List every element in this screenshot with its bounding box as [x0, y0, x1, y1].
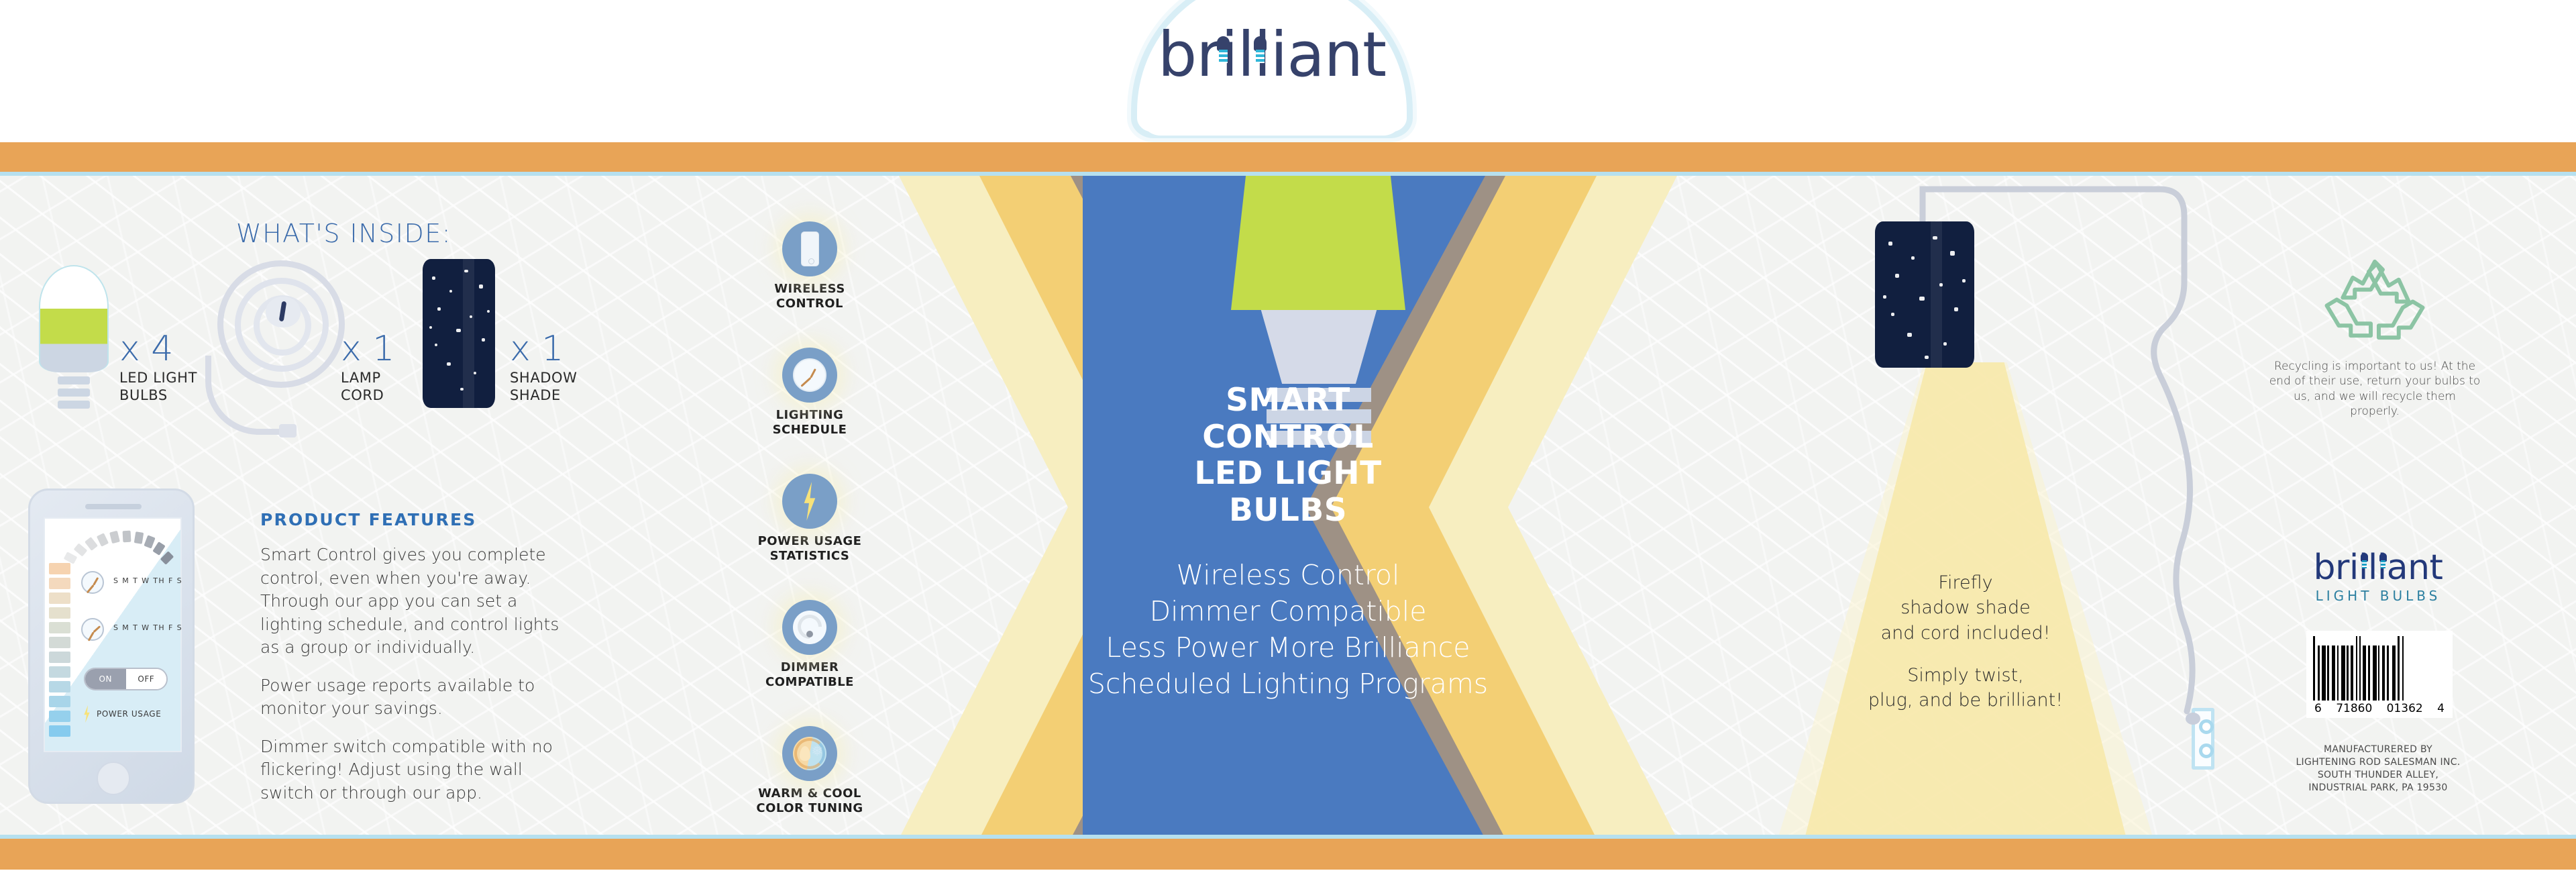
feature-dimmer-compatible: DIMMER COMPATIBLE	[749, 600, 870, 689]
led-bulb-thread	[58, 376, 90, 384]
phone-mockup: S M T W TH F S S M T W TH F S ON OFF POW…	[28, 488, 195, 804]
product-features-heading: PRODUCT FEATURES	[260, 510, 476, 529]
clock-icon	[81, 571, 104, 594]
clock-icon	[81, 618, 104, 641]
footer-brand-block: brilliant LIGHT BULBS	[2294, 550, 2462, 604]
center-title-line: CONTROL	[899, 419, 1677, 456]
footer-white-strip	[0, 870, 2576, 879]
feature-label-line2: COLOR TUNING	[756, 801, 863, 815]
dimmer-knob-icon	[782, 600, 837, 655]
feature-label-line2: STATISTICS	[770, 549, 850, 563]
center-subtitle-list: Wireless Control Dimmer Compatible Less …	[899, 557, 1677, 702]
product-features-paragraph: Smart Control gives you complete control…	[260, 544, 576, 660]
header-band: brilliant	[0, 0, 2576, 142]
inside-item-label-line1: LAMP	[341, 370, 381, 386]
inside-item-label-line2: CORD	[341, 387, 384, 403]
firefly-line3: and cord included!	[1811, 621, 2120, 645]
manufacturer-line: INDUSTRIAL PARK, PA 19530	[2281, 782, 2475, 794]
recycling-icon	[2324, 254, 2425, 348]
firefly-line2: shadow shade	[1811, 595, 2120, 620]
toggle-on-label[interactable]: ON	[85, 669, 126, 689]
power-usage-label: POWER USAGE	[97, 709, 161, 719]
giant-bulb-neck	[1253, 310, 1385, 384]
manufacturer-line: LIGHTENING ROD SALESMAN INC.	[2281, 756, 2475, 769]
manufacturer-line: MANUFACTURERED BY	[2281, 743, 2475, 756]
feature-label-line2: SCHEDULE	[773, 423, 847, 437]
feature-power-usage-statistics: POWER USAGE STATISTICS	[749, 474, 870, 563]
barcode: 6 71860 01362 4	[2306, 631, 2453, 718]
schedule-days-row2: S M T W TH F S	[113, 623, 182, 632]
led-bulb-thread	[58, 389, 90, 397]
toggle-off-label[interactable]: OFF	[126, 669, 167, 689]
shade-highlight	[1931, 221, 1942, 368]
feature-wireless-control: WIRELESS CONTROL	[749, 221, 870, 311]
product-features-paragraph: Dimmer switch compatible with no flicker…	[260, 735, 576, 805]
inside-item-label-line1: SHADOW	[510, 370, 578, 386]
center-subtitle-line: Scheduled Lighting Programs	[899, 666, 1677, 702]
inside-item-cord: x 1 LAMP CORD	[341, 329, 421, 405]
center-title-line: LED LIGHT	[899, 456, 1677, 493]
schedule-days-row1: S M T W TH F S	[113, 576, 182, 585]
inside-item-label-line2: SHADE	[510, 387, 561, 403]
barcode-digit-left: 6	[2314, 702, 2322, 715]
smartphone-icon	[782, 221, 837, 276]
phone-screen: S M T W TH F S S M T W TH F S ON OFF POW…	[44, 517, 182, 752]
product-features-body: Smart Control gives you complete control…	[260, 544, 576, 819]
recycling-block: Recycling is important to us! At the end…	[2267, 254, 2482, 419]
manufacturer-info: MANUFACTURERED BY LIGHTENING ROD SALESMA…	[2281, 743, 2475, 794]
logo-bulb-dot-icon	[1217, 36, 1230, 51]
firefly-line5: plug, and be brilliant!	[1811, 688, 2120, 713]
logo-bulb-dot-icon	[2379, 553, 2387, 562]
bottom-orange-band	[0, 839, 2576, 870]
feature-label-line1: WARM & COOL	[758, 786, 861, 800]
top-orange-band	[0, 142, 2576, 172]
firefly-line1: Firefly	[1811, 570, 2120, 595]
led-bulb-icon	[34, 265, 114, 413]
shadow-shade-icon	[423, 259, 495, 408]
center-subtitle-line: Wireless Control	[899, 557, 1677, 593]
product-features-paragraph: Power usage reports available to monitor…	[260, 674, 576, 721]
shade-highlight	[463, 259, 474, 408]
barcode-digit-group2: 01362	[2387, 702, 2423, 715]
feature-lighting-schedule: LIGHTING SCHEDULE	[749, 348, 870, 437]
inside-item-qty: x 1	[510, 329, 610, 369]
barcode-digit-right: 4	[2437, 702, 2445, 715]
inside-item-shade: x 1 SHADOW SHADE	[510, 329, 610, 405]
phone-home-button[interactable]	[97, 762, 130, 795]
outlet-socket	[2199, 719, 2214, 734]
barcode-digit-group1: 71860	[2336, 702, 2372, 715]
power-toggle[interactable]: ON OFF	[84, 668, 168, 690]
clock-icon	[782, 348, 837, 403]
feature-warm-cool-color-tuning: ❅ WARM & COOL COLOR TUNING	[749, 726, 870, 815]
feature-label-line1: DIMMER	[781, 660, 839, 674]
center-title: SMART CONTROL LED LIGHT BULBS	[899, 382, 1677, 529]
cord-socket	[266, 297, 301, 327]
led-bulb-thread	[58, 401, 90, 409]
warm-cool-icon: ❅	[782, 726, 837, 781]
feature-label-line2: COMPATIBLE	[765, 675, 854, 689]
barcode-bars	[2313, 636, 2446, 701]
recycling-note: Recycling is important to us! At the end…	[2267, 359, 2482, 419]
feature-label-line1: WIRELESS	[774, 282, 845, 296]
firefly-line4: Simply twist,	[1811, 663, 2120, 688]
inside-item-bulbs: x 4 LED LIGHT BULBS	[119, 329, 207, 405]
logo-bulb-dot-icon	[1254, 36, 1267, 51]
phone-speaker	[85, 504, 142, 509]
firefly-callout: Firefly shadow shade and cord included! …	[1811, 570, 2120, 713]
dimmer-arc[interactable]	[65, 528, 167, 568]
giant-bulb-glass	[1231, 176, 1405, 310]
center-subtitle-line: Dimmer Compatible	[899, 593, 1677, 629]
footer-brand-wordmark: brilliant	[2294, 550, 2462, 585]
shadow-shade-large-icon	[1875, 221, 1974, 368]
lightning-bolt-icon	[782, 474, 837, 529]
center-subtitle-line: Less Power More Brilliance	[899, 629, 1677, 666]
shade-cylinder	[1875, 221, 1974, 368]
footer-brand-text: brilliant	[2314, 548, 2443, 588]
lightning-bolt-icon	[83, 705, 91, 723]
manufacturer-line: SOUTH THUNDER ALLEY,	[2281, 769, 2475, 782]
cord-plug	[279, 424, 297, 437]
inside-item-label-line1: LED LIGHT	[119, 370, 197, 386]
feature-label-line2: CONTROL	[776, 297, 843, 311]
inside-item-qty: x 1	[341, 329, 421, 369]
brand-logo-wordmark: brilliant	[1131, 24, 1413, 86]
feature-label-line1: LIGHTING	[776, 408, 844, 422]
lamp-cord-icon	[215, 255, 356, 416]
led-bulb-glass	[39, 265, 109, 372]
footer-brand-tagline: LIGHT BULBS	[2294, 588, 2462, 604]
package-artboard: brilliant SMART CONTROL LED LIGHT BULBS …	[0, 0, 2576, 879]
outlet-plug-icon	[2186, 713, 2200, 725]
logo-bulb-dot-icon	[2361, 553, 2368, 562]
barcode-digits: 6 71860 01362 4	[2313, 701, 2446, 715]
inside-item-label-line2: BULBS	[119, 387, 168, 403]
color-temperature-slider[interactable]	[49, 563, 70, 740]
inside-item-qty: x 4	[119, 329, 207, 369]
shade-cylinder	[423, 259, 495, 408]
power-usage-row[interactable]: POWER USAGE	[83, 705, 161, 723]
center-title-line: BULBS	[899, 493, 1677, 529]
center-title-line: SMART	[899, 382, 1677, 419]
outlet-socket	[2199, 743, 2214, 758]
feature-label-line1: POWER USAGE	[758, 534, 862, 548]
whats-inside-heading: WHAT'S INSIDE:	[236, 219, 451, 248]
